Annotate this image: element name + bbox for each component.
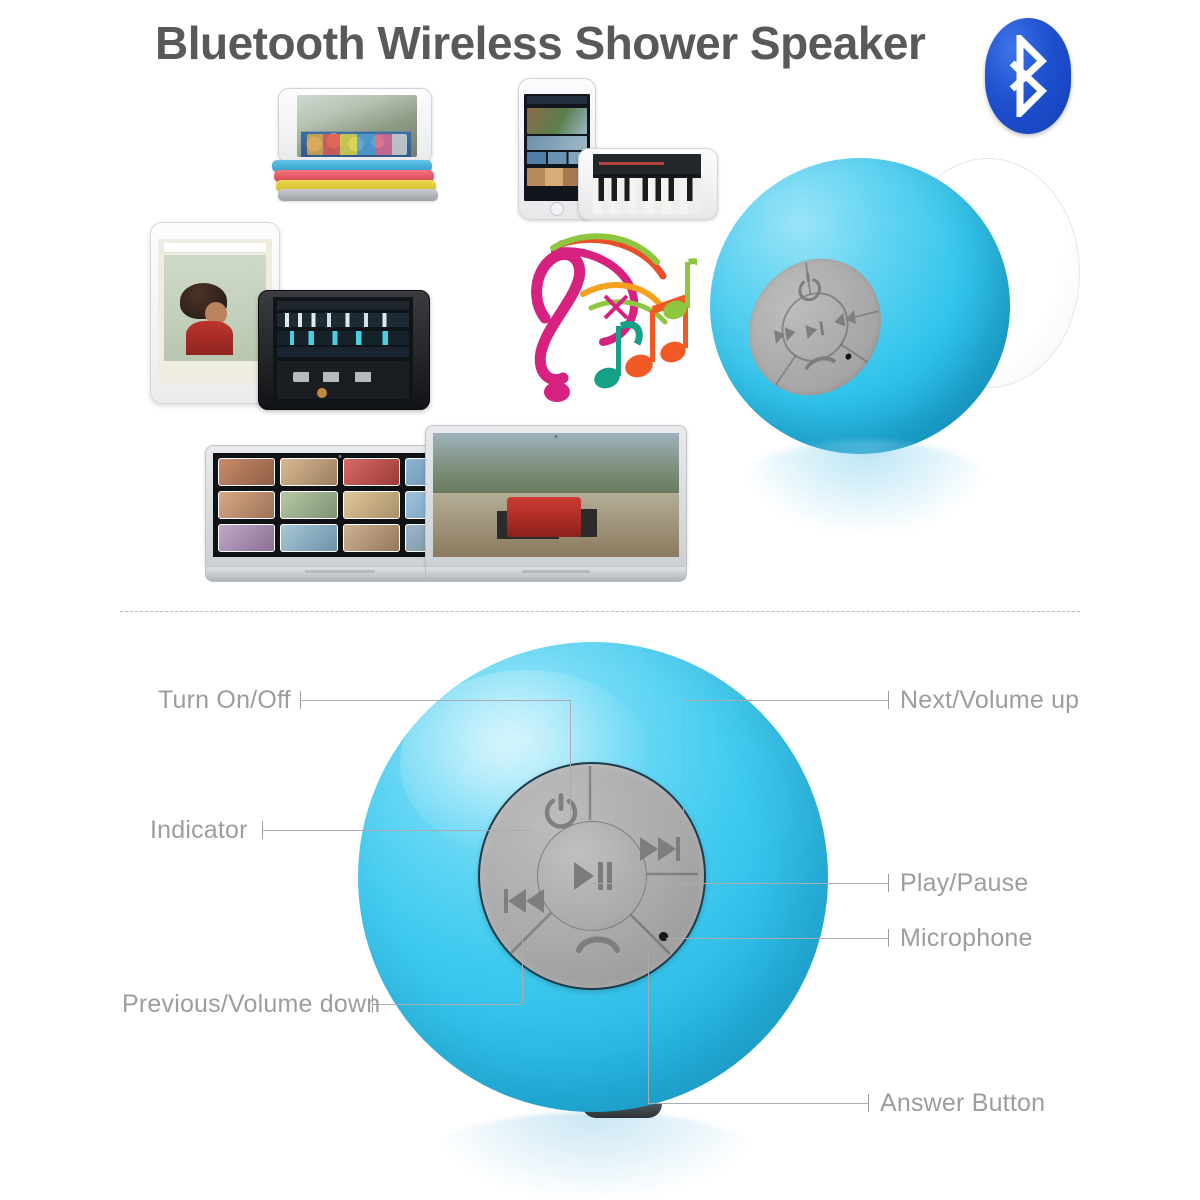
callout-label-indicator: Indicator bbox=[150, 816, 248, 845]
leader-tick-playpause bbox=[888, 874, 889, 892]
product-infographic: Bluetooth Wireless Shower Speaker bbox=[0, 0, 1200, 1200]
power-icon bbox=[540, 790, 582, 832]
leader-answer-h bbox=[648, 1103, 868, 1104]
phone-answer-icon bbox=[576, 930, 620, 956]
speaker-reflection-big bbox=[430, 1112, 760, 1200]
leader-previous-h bbox=[372, 1004, 522, 1005]
leader-power-v bbox=[570, 700, 571, 818]
callout-label-playpause: Play/Pause bbox=[900, 869, 1028, 898]
leader-tick-answer bbox=[868, 1094, 869, 1112]
tablet-black-music-app bbox=[258, 290, 430, 410]
leader-power-h bbox=[300, 700, 570, 701]
callout-label-previous: Previous/Volume down bbox=[122, 990, 380, 1019]
play-pause-button[interactable] bbox=[537, 821, 647, 931]
leader-answer-v bbox=[648, 952, 649, 1103]
speaker-reflection-top bbox=[736, 440, 994, 536]
tablet-black-screen bbox=[273, 297, 413, 403]
ipod-top-device bbox=[278, 88, 432, 164]
previous-track-icon bbox=[502, 886, 546, 916]
leader-playpause-h bbox=[590, 883, 888, 884]
callout-label-power: Turn On/Off bbox=[158, 686, 291, 715]
laptop-right-screen bbox=[433, 433, 679, 557]
leader-next-h bbox=[683, 700, 888, 701]
iphone-home-button bbox=[550, 202, 564, 216]
ipod-screen bbox=[297, 95, 417, 157]
leader-tick-next bbox=[888, 691, 889, 709]
ipod-touch-stack bbox=[272, 88, 444, 198]
next-volume-up-button[interactable] bbox=[638, 834, 682, 869]
leader-microphone-h bbox=[666, 938, 888, 939]
callout-label-next: Next/Volume up bbox=[900, 686, 1079, 715]
iphone-piano bbox=[578, 148, 718, 220]
play-pause-icon bbox=[564, 856, 620, 896]
leader-tick-microphone bbox=[888, 929, 889, 947]
next-track-icon bbox=[638, 834, 682, 864]
laptop-right-lid bbox=[425, 425, 687, 567]
leader-previous-v bbox=[522, 912, 523, 1004]
leader-next-v bbox=[683, 700, 684, 842]
callout-label-microphone: Microphone bbox=[900, 924, 1033, 953]
microphone-dot-icon bbox=[659, 932, 668, 941]
ipod-gray bbox=[278, 189, 438, 201]
tablet-white-screen bbox=[158, 239, 272, 383]
iphone-piano-screen bbox=[593, 154, 701, 214]
previous-volume-down-button[interactable] bbox=[502, 886, 546, 921]
control-pad bbox=[478, 762, 706, 990]
power-button[interactable] bbox=[540, 790, 582, 837]
music-notes-graphic bbox=[487, 222, 697, 412]
control-pad-top bbox=[740, 244, 889, 409]
callout-label-answer: Answer Button bbox=[880, 1089, 1045, 1118]
control-pad-top-glyphs bbox=[740, 244, 889, 409]
labeled-product-diagram: Turn On/Off Indicator Previous/Volume do… bbox=[0, 612, 1200, 1200]
product-photo-angled bbox=[700, 140, 1080, 540]
speaker-dome-top bbox=[710, 158, 1010, 454]
answer-button[interactable] bbox=[576, 930, 620, 961]
leader-indicator-h bbox=[262, 830, 532, 831]
laptop-right-base bbox=[425, 567, 687, 582]
laptop-racing-game bbox=[425, 425, 687, 582]
